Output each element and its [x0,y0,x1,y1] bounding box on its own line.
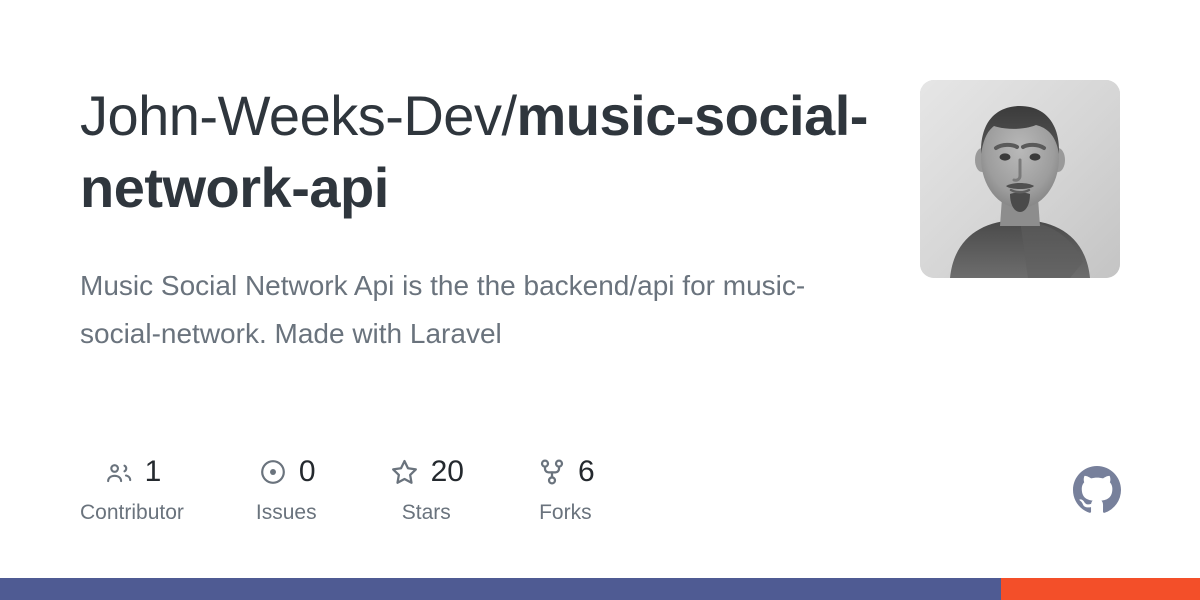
language-segment-php [0,578,1001,600]
stat-issues: 0 Issues [256,452,317,526]
stat-top: 0 [257,452,316,492]
repo-description: Music Social Network Api is the the back… [80,262,880,358]
stat-top: 6 [536,452,595,492]
stat-stars: 20 Stars [389,452,464,526]
avatar [920,80,1120,278]
github-octocat-icon [1073,466,1121,514]
stat-label: Stars [402,500,451,526]
card-header: John-Weeks-Dev/music-social-network-api [80,80,1120,278]
language-bar [0,578,1200,600]
stat-label: Issues [256,500,317,526]
stat-top: 1 [103,452,162,492]
repo-forked-icon [536,456,568,488]
stat-value: 1 [145,456,162,488]
repository-social-preview-card: John-Weeks-Dev/music-social-network-api [0,0,1200,600]
language-segment-html [1001,578,1200,600]
repo-owner: John-Weeks-Dev/ [80,84,517,147]
stat-label: Contributor [80,500,184,526]
stat-forks: 6 Forks [536,452,595,526]
issue-opened-icon [257,456,289,488]
stat-value: 0 [299,456,316,488]
stat-top: 20 [389,452,464,492]
stat-value: 6 [578,456,595,488]
stat-value: 20 [431,456,464,488]
repo-stats: 1 Contributor 0 Issues [80,452,595,526]
star-icon [389,456,421,488]
stat-label: Forks [539,500,592,526]
stat-contributors: 1 Contributor [80,452,184,526]
people-icon [103,456,135,488]
page-title: John-Weeks-Dev/music-social-network-api [80,80,920,224]
